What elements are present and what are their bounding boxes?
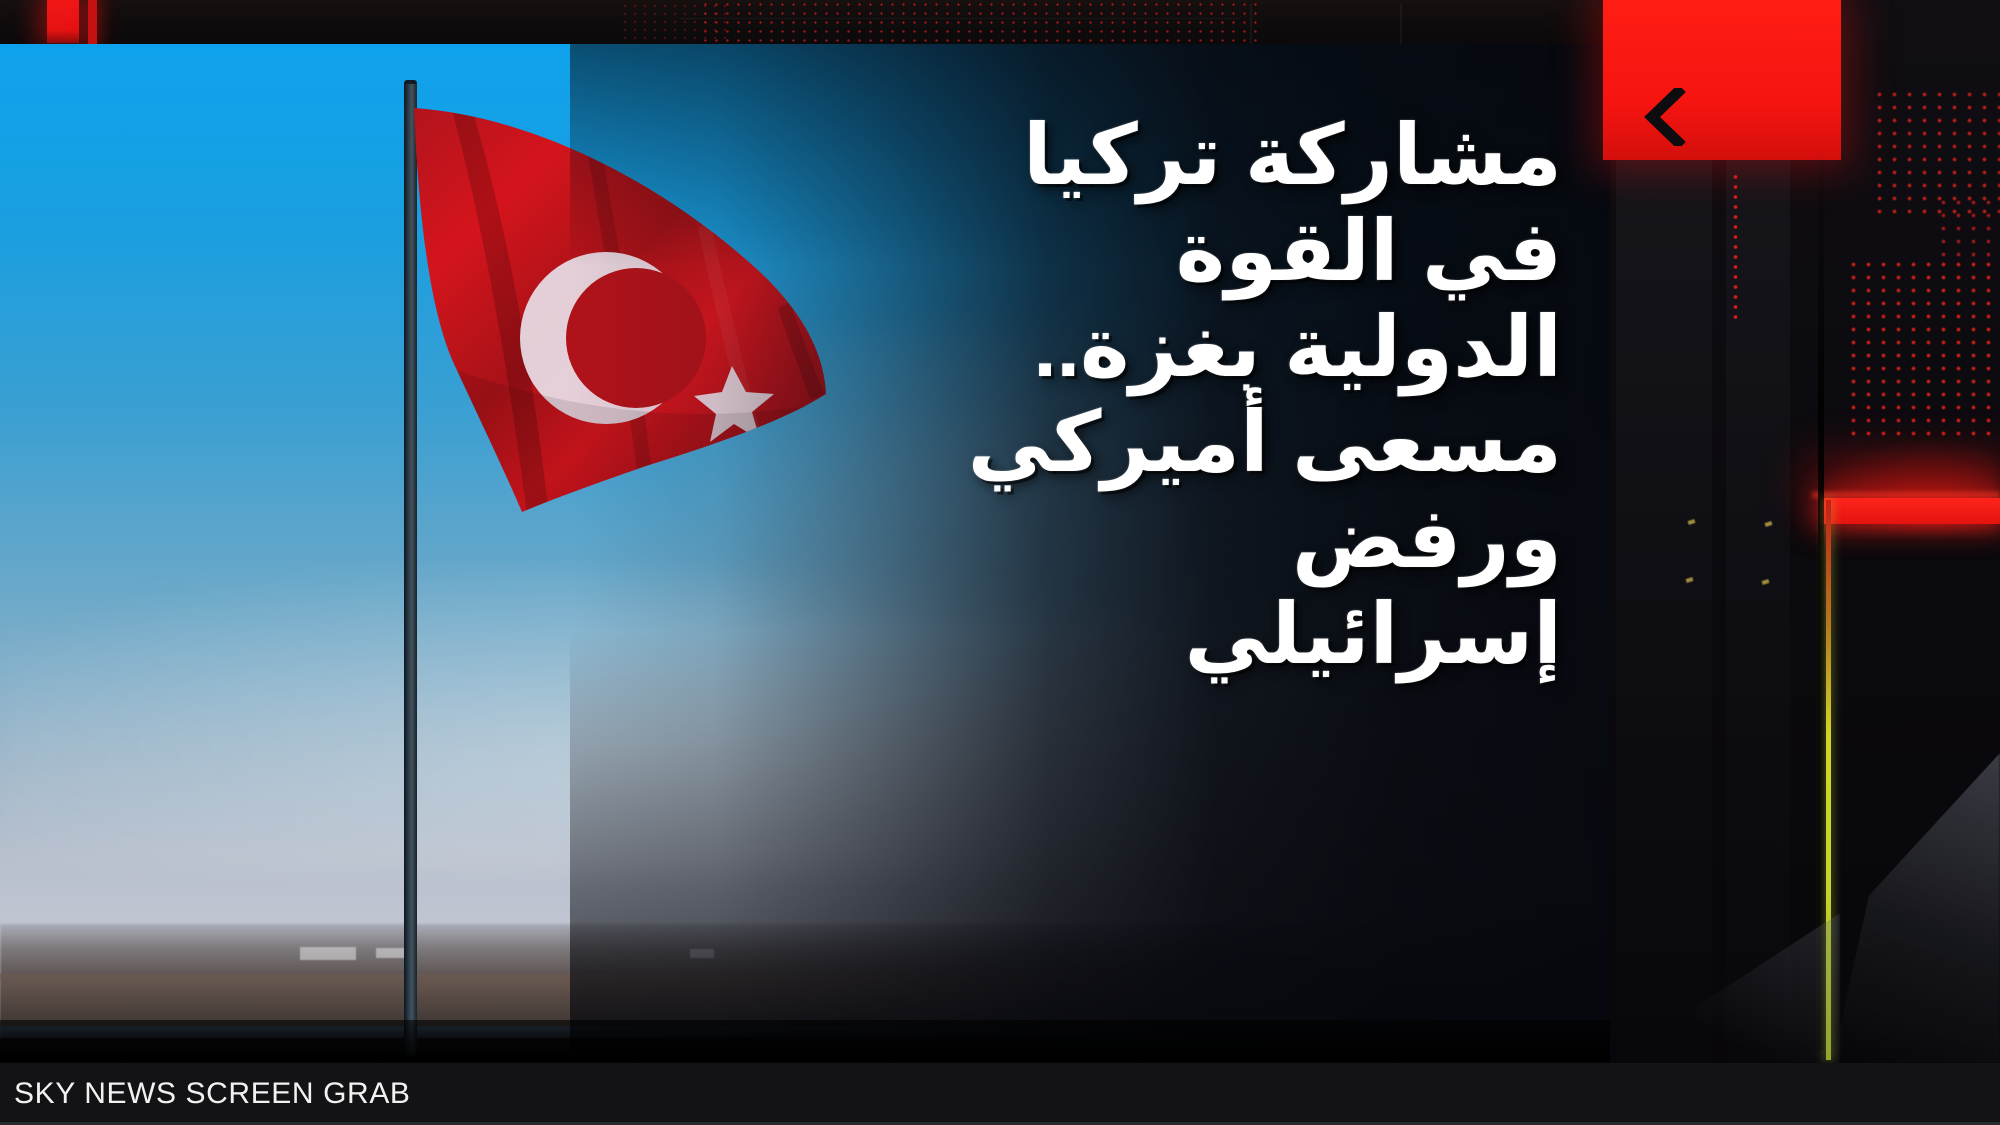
- distant-building: [300, 947, 356, 960]
- studio-panel-divider: [1250, 4, 1252, 48]
- news-headline: مشاركة تركيا في القوة الدولية بغزة.. مسع…: [862, 108, 1562, 683]
- studio-red-light-slab: [47, 0, 79, 43]
- headline-line-5: ورفض: [862, 491, 1562, 587]
- headline-line-4: مسعى أميركي: [862, 395, 1562, 491]
- led-dot-line: [1732, 172, 1739, 320]
- led-matrix-right-small: [1936, 196, 2000, 266]
- headline-line-6: إسرائيلي: [862, 587, 1562, 683]
- screen-bottom-shadow: [0, 1020, 1620, 1062]
- studio-dark-seam: [1818, 150, 1824, 1050]
- caption-bar: SKY NEWS SCREEN GRAB: [0, 1063, 2000, 1125]
- led-matrix-top-center: [700, 0, 1260, 48]
- red-graphic-card: [1603, 0, 1841, 160]
- led-matrix-right-lower: [1846, 258, 2000, 438]
- caption-label: SKY NEWS SCREEN GRAB: [14, 1077, 411, 1111]
- studio-red-light-slab-secondary: [88, 0, 97, 44]
- red-glow-bar: [1820, 498, 2000, 524]
- led-wall-screen: مشاركة تركيا في القوة الدولية بغزة.. مسع…: [0, 44, 1610, 1056]
- headline-line-2: في القوة: [862, 204, 1562, 300]
- studio-panel-divider: [680, 18, 1240, 19]
- headline-line-1: مشاركة تركيا: [862, 108, 1562, 204]
- distant-building: [376, 948, 406, 958]
- studio-panel-divider: [1400, 4, 1402, 48]
- headline-line-3: الدولية بغزة..: [862, 300, 1562, 396]
- chevron-left-icon: [1642, 88, 1686, 146]
- screenshot-root: مشاركة تركيا في القوة الدولية بغزة.. مسع…: [0, 0, 2000, 1125]
